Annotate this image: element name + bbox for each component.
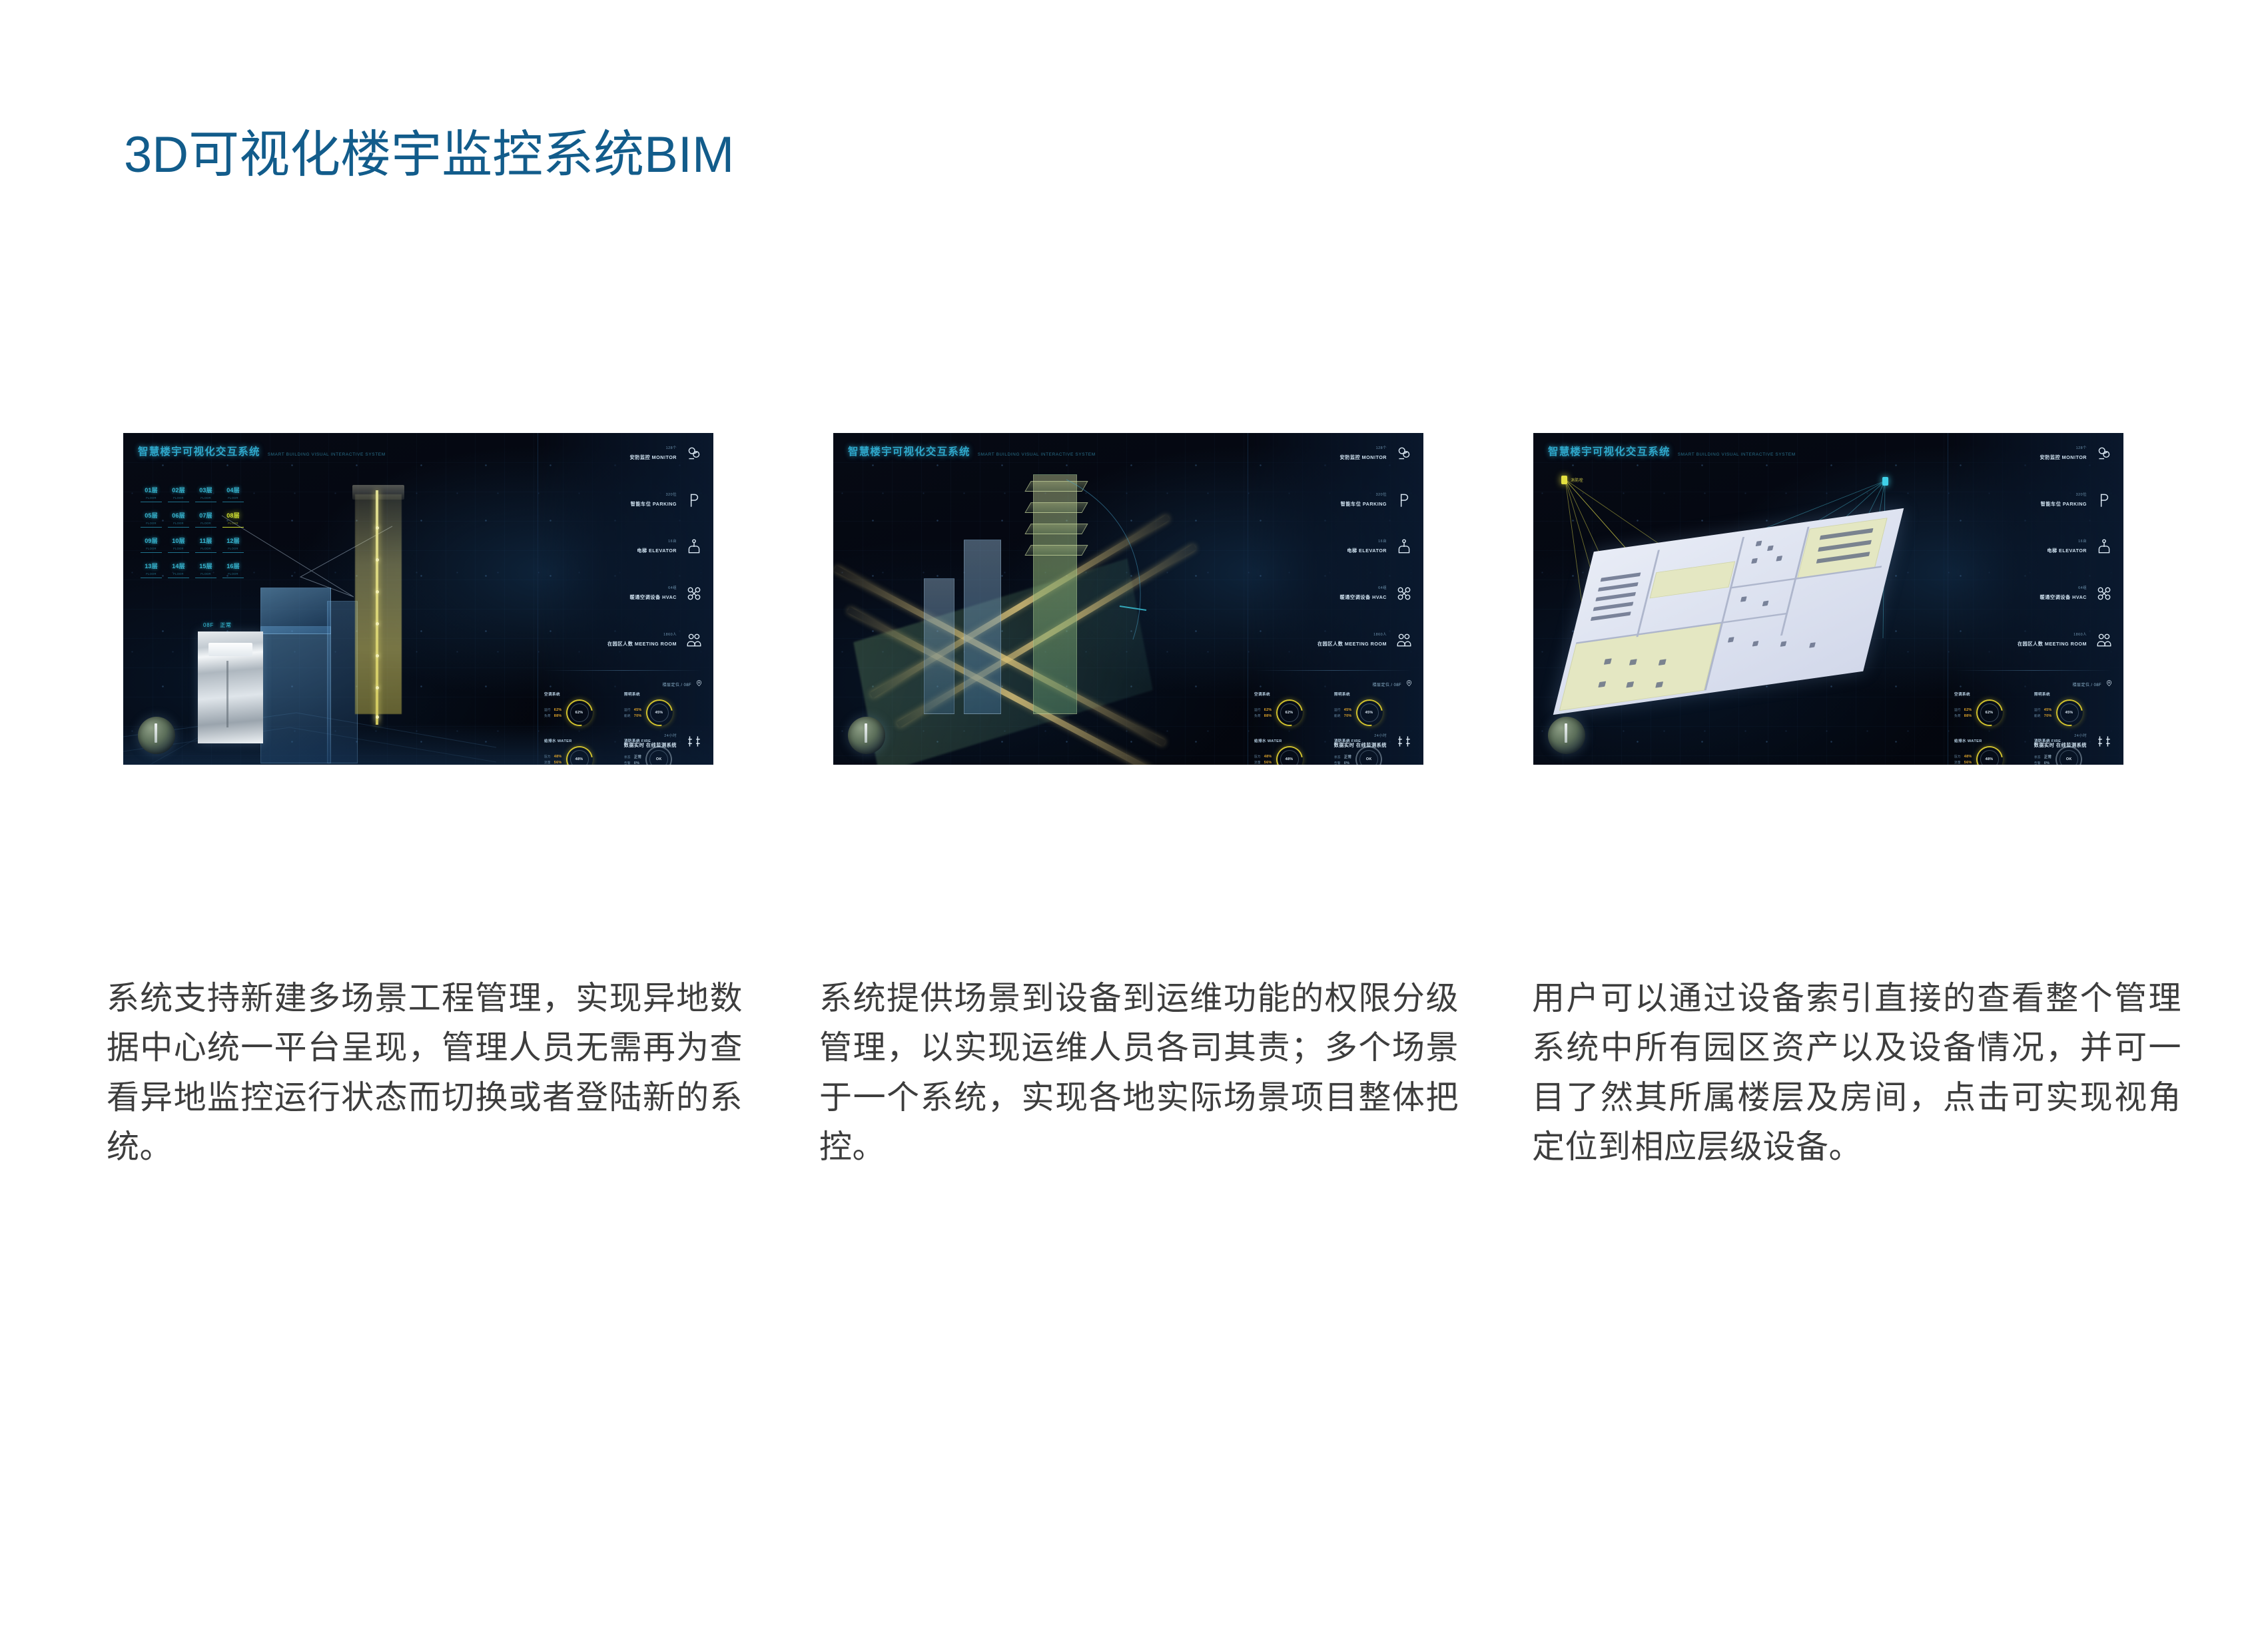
sidebar-value: 24小时	[1334, 733, 1387, 738]
gauge-stat-value: 0%	[634, 761, 639, 765]
sidebar-item-hvac[interactable]: 64组暖通空调设备 HVAC	[1248, 584, 1414, 604]
location-row[interactable]: 楼层定位 / 08F	[663, 678, 703, 690]
floorplan-zone	[1650, 562, 1736, 599]
floorplan-desk	[1728, 637, 1734, 642]
location-label: 楼层定位 / 08F	[1373, 681, 1401, 687]
gauge-stat-key: 运行	[624, 708, 631, 712]
gauge-ring: 62%	[1276, 699, 1303, 726]
gauge-ring-value: 62%	[1986, 711, 1994, 715]
monitor-camera-icon	[1394, 444, 1414, 464]
slide-root: 3D可视化楼宇监控系统BIM 智慧楼宇可视化交互系统 SMART BUILDIN…	[0, 0, 2242, 1652]
elevator-status-tag: 08F正常	[203, 621, 232, 629]
beacon-marker-cyan[interactable]	[1882, 477, 1888, 486]
sidebar-label: 电梯 ELEVATOR	[2047, 548, 2087, 554]
sidebar-value: 1860人	[607, 631, 677, 637]
sidebar-item-elevator[interactable]: 16台电梯 ELEVATOR	[1248, 537, 1414, 557]
gauge-ring: 48%	[1976, 746, 2003, 765]
sidebar-label: 在园区人数 MEETING ROOM	[607, 641, 677, 647]
minimap-globe[interactable]	[848, 717, 885, 754]
gauge-title: 空调系统	[1954, 691, 2033, 697]
gauge-title: 照明系统	[624, 691, 703, 697]
floorplan-desk	[1593, 602, 1634, 611]
hvac-icon	[684, 584, 704, 604]
location-pin-icon	[1405, 678, 1413, 690]
floorplan-desk	[1751, 558, 1758, 564]
gauge-stat-key: 能耗	[1334, 714, 1341, 718]
gauge-stat-key: 运行	[2034, 708, 2041, 712]
gauge-ring-value: 45%	[2065, 711, 2073, 715]
parking-p-icon	[2094, 490, 2114, 510]
sidebar-item-monitor[interactable]: 128个安防监控 MONITOR	[1248, 444, 1414, 464]
clock-analytics-icon	[684, 731, 704, 751]
gauge-title: 照明系统	[2034, 691, 2113, 697]
sidebar-item-parking[interactable]: 320位 智能车位 PARKING	[538, 490, 704, 510]
sidebar-value: 320位	[2041, 492, 2087, 497]
sidebar-divider	[1954, 670, 2113, 671]
right-sidebar: 128个安防监控 MONITOR 320位智能车位 PARKING 16台电梯 …	[1948, 433, 2123, 765]
gauge-stat-value: 56%	[1264, 761, 1272, 765]
gauge-ring-value: OK	[656, 757, 662, 761]
shaft-node	[376, 686, 379, 689]
gauge-ring-value: 62%	[1286, 711, 1294, 715]
shaft-node	[376, 590, 379, 594]
gauge-widget[interactable]: 空调系统 运行62% 负荷88% 62%	[544, 691, 623, 730]
gauge-stat-value: 正常	[2044, 754, 2052, 759]
gauge-stat-value: 62%	[1964, 708, 1972, 712]
gauge-stat-key: 压力	[544, 755, 551, 759]
sidebar-value: 16台	[637, 538, 677, 544]
building-block	[964, 540, 1001, 714]
sidebar-item-people-count[interactable]: 1860人在园区人数 MEETING ROOM	[1248, 630, 1414, 650]
floorplan-desk	[1756, 541, 1762, 546]
dashboard-canvas: 智慧楼宇可视化交互系统 SMART BUILDING VISUAL INTERA…	[123, 433, 713, 765]
sidebar-label: 暖通空调设备 HVAC	[1340, 594, 1387, 600]
monitor-camera-icon	[2094, 444, 2114, 464]
gauge-stat-key: 负荷	[1954, 714, 1961, 718]
sidebar-item-hvac[interactable]: 64组暖通空调设备 HVAC	[1948, 584, 2114, 604]
sidebar-item-monitor[interactable]: 128个 安防监控 MONITOR	[538, 444, 704, 464]
sidebar-value: 24小时	[2034, 733, 2087, 738]
gauge-stat-value: 88%	[1964, 714, 1972, 718]
floorplan-wall	[1780, 527, 1810, 636]
gauge-title: 给排水 WATER	[1954, 738, 2033, 743]
gauge-stat-value: 48%	[1964, 755, 1972, 759]
elevator-rail	[376, 490, 378, 725]
dashboard-subtitle: SMART BUILDING VISUAL INTERACTIVE SYSTEM	[1678, 452, 1796, 458]
floorplan-desk	[1780, 641, 1787, 646]
minimap-globe[interactable]	[1548, 717, 1585, 754]
location-row[interactable]: 楼层定位 / 08F	[2073, 678, 2113, 690]
monitor-camera-icon	[684, 444, 704, 464]
gauge-stat-key: 能耗	[624, 714, 631, 718]
gauge-stat-value: 88%	[1264, 714, 1272, 718]
hvac-icon	[2094, 584, 2114, 604]
gauge-stat-value: 70%	[634, 714, 642, 718]
gauge-stat-value: 0%	[1344, 761, 1349, 765]
gauge-stat-key: 运行	[1334, 708, 1341, 712]
sidebar-label: 电梯 ELEVATOR	[637, 548, 677, 554]
shaft-node	[376, 558, 379, 562]
sidebar-value: 1860人	[1317, 631, 1387, 637]
sidebar-value: 64组	[2040, 585, 2087, 590]
gauge-stat-key: 告警	[624, 761, 631, 765]
floorplan-wall	[1704, 537, 1744, 691]
gauge-stat-key: 状态	[1334, 755, 1341, 759]
screenshot-elevator-view[interactable]: 智慧楼宇可视化交互系统 SMART BUILDING VISUAL INTERA…	[123, 433, 713, 765]
gauge-widget[interactable]: 照明系统运行45%能耗70%45%	[2034, 691, 2113, 730]
gauge-widget[interactable]: 给排水 WATER压力48%流量56%48%	[1254, 738, 1333, 765]
sidebar-item-bottom[interactable]: 24小时 数据实时 在线监测系统	[624, 731, 704, 751]
sidebar-value: 24小时	[624, 733, 677, 738]
floorplan-desk	[1601, 572, 1641, 582]
gauge-title: 给排水 WATER	[544, 738, 623, 743]
elevator-interior-photo[interactable]	[198, 631, 263, 743]
people-count-icon	[2094, 630, 2114, 650]
right-sidebar: 128个安防监控 MONITOR 320位智能车位 PARKING 16台电梯 …	[1248, 433, 1423, 765]
elevator-floor: 08F	[203, 622, 214, 628]
gauge-stat-value: 62%	[554, 708, 562, 712]
gauge-stat-key: 流量	[544, 761, 551, 765]
right-sidebar: 128个 安防监控 MONITOR 320位 智能车位 PARKING	[538, 433, 713, 765]
gauge-widget[interactable]: 照明系统运行45%能耗70%45%	[1334, 691, 1413, 730]
gauge-stat-key: 运行	[544, 708, 551, 712]
location-pin-icon	[695, 678, 703, 690]
gauge-ring: 45%	[2056, 699, 2083, 726]
gauge-stat-key: 运行	[1954, 708, 1961, 712]
sidebar-value: 64组	[1340, 585, 1387, 590]
gauge-ring-value: 48%	[1286, 757, 1294, 761]
gauge-stat-key: 负荷	[1254, 714, 1261, 718]
sidebar-item-people-count[interactable]: 1860人在园区人数 MEETING ROOM	[1948, 630, 2114, 650]
floorplan-desk	[1752, 641, 1759, 646]
clock-analytics-icon	[2094, 731, 2114, 751]
gauge-ring: 62%	[1976, 699, 2003, 726]
sidebar-item-parking[interactable]: 320位智能车位 PARKING	[1948, 490, 2114, 510]
sidebar-label: 智能车位 PARKING	[2041, 501, 2087, 507]
location-pin-icon	[2105, 678, 2113, 690]
beacon-marker-yellow[interactable]	[1561, 476, 1567, 484]
caption-column-1: 系统支持新建多场景工程管理，实现异地数据中心统一平台呈现，管理人员无需再为查看异…	[107, 974, 743, 1172]
gauge-ring-value: 48%	[575, 757, 583, 761]
gauge-stat-value: 48%	[1264, 755, 1272, 759]
sidebar-label: 电梯 ELEVATOR	[1347, 548, 1387, 554]
floorplan-desk	[1740, 596, 1747, 602]
gauge-stat-value: 88%	[554, 714, 562, 718]
gauge-ring: 48%	[566, 746, 593, 765]
floorplan-desk	[1767, 546, 1774, 551]
floorplan-desk	[1776, 556, 1782, 561]
sidebar-value: 1860人	[2018, 631, 2087, 637]
sidebar-item-bottom[interactable]: 24小时数据实时 在线监测系统	[1334, 731, 1414, 751]
screenshot-district-view[interactable]: 智慧楼宇可视化交互系统 SMART BUILDING VISUAL INTERA…	[833, 433, 1423, 765]
gauge-widget[interactable]: 给排水 WATER压力48%流量56%48%	[1954, 738, 2033, 765]
gauge-stat-value: 45%	[1344, 708, 1352, 712]
gauge-stat-key: 压力	[1254, 755, 1261, 759]
elevator-icon	[684, 537, 704, 557]
floorplan-desk	[1595, 592, 1636, 602]
gauge-stat-key: 压力	[1954, 755, 1961, 759]
sidebar-value: 64组	[630, 585, 677, 590]
caption-column-2: 系统提供场景到设备到运维功能的权限分级管理，以实现运维人员各司其责；多个场景于一…	[819, 974, 1459, 1172]
gauge-stat-value: 45%	[634, 708, 642, 712]
sidebar-label: 数据实时 在线监测系统	[624, 742, 677, 748]
sidebar-item-elevator[interactable]: 16台电梯 ELEVATOR	[1948, 537, 2114, 557]
floorplan-desk	[1598, 582, 1639, 592]
gauge-ring-value: 48%	[1986, 757, 1994, 761]
gauge-stat-value: 56%	[554, 761, 562, 765]
shaft-node	[376, 622, 379, 625]
sidebar-item-hvac[interactable]: 64组 暖通空调设备 HVAC	[538, 584, 704, 604]
sidebar-item-bottom[interactable]: 24小时数据实时 在线监测系统	[2034, 731, 2114, 751]
glass-block	[260, 588, 331, 634]
sidebar-label: 在园区人数 MEETING ROOM	[2018, 641, 2087, 647]
caption-column-3: 用户可以通过设备索引直接的查看整个管理系统中所有园区资产以及设备情况，并可一目了…	[1532, 974, 2181, 1172]
dashboard-header: 智慧楼宇可视化交互系统 SMART BUILDING VISUAL INTERA…	[1548, 444, 1796, 458]
gauge-widget[interactable]: 给排水 WATER 压力48% 流量56% 48%	[544, 738, 623, 765]
beacon-label: 消防栓	[1571, 477, 1583, 483]
location-row[interactable]: 楼层定位 / 08F	[1373, 678, 1413, 690]
sidebar-label: 在园区人数 MEETING ROOM	[1317, 641, 1387, 647]
gauge-stat-key: 状态	[624, 755, 631, 759]
gauge-ring: 45%	[1356, 699, 1383, 726]
gauge-widget[interactable]: 照明系统 运行45% 能耗70% 45%	[624, 691, 703, 730]
sidebar-label: 安防监控 MONITOR	[629, 454, 677, 460]
sidebar-label: 数据实时 在线监测系统	[1334, 742, 1387, 748]
floorplan-desk	[1762, 601, 1769, 606]
dashboard-canvas: 智慧楼宇可视化交互系统 SMART BUILDING VISUAL INTERA…	[833, 433, 1423, 765]
sidebar-divider	[544, 670, 703, 671]
gauge-panel: 空调系统运行62%负荷88%62% 照明系统运行45%能耗70%45% 给排水 …	[1954, 691, 2113, 765]
gauge-stat-value: 56%	[1964, 761, 1972, 765]
sidebar-label: 安防监控 MONITOR	[2040, 454, 2087, 460]
sidebar-label: 安防监控 MONITOR	[1339, 454, 1387, 460]
gauge-widget[interactable]: 空调系统运行62%负荷88%62%	[1954, 691, 2033, 730]
gauge-title: 空调系统	[1254, 691, 1333, 697]
sidebar-label: 智能车位 PARKING	[1341, 501, 1387, 507]
elevator-icon	[2094, 537, 2114, 557]
hvac-icon	[1394, 584, 1414, 604]
minimap-globe[interactable]	[138, 717, 175, 754]
elevator-icon	[1394, 537, 1414, 557]
sidebar-divider	[1254, 670, 1413, 671]
gauge-ring-value: 62%	[575, 711, 583, 715]
gauge-stat-key: 能耗	[2034, 714, 2041, 718]
screenshot-floorplan-view[interactable]: 智慧楼宇可视化交互系统 SMART BUILDING VISUAL INTERA…	[1533, 433, 2123, 765]
sidebar-value: 128个	[1339, 445, 1387, 450]
building-block	[924, 578, 954, 714]
dashboard-canvas: 智慧楼宇可视化交互系统 SMART BUILDING VISUAL INTERA…	[1533, 433, 2123, 765]
ground-grid-lines	[123, 698, 496, 765]
gauge-stat-value: 正常	[1344, 754, 1351, 759]
gauge-stat-value: 0%	[2044, 761, 2050, 765]
gauge-title: 照明系统	[1334, 691, 1413, 697]
gauge-stat-key: 状态	[2034, 755, 2041, 759]
gauge-widget[interactable]: 空调系统运行62%负荷88%62%	[1254, 691, 1333, 730]
gauge-title: 给排水 WATER	[1254, 738, 1333, 743]
people-count-icon	[1394, 630, 1414, 650]
sidebar-label: 暖通空调设备 HVAC	[2040, 594, 2087, 600]
gauge-stat-value: 45%	[2044, 708, 2052, 712]
gauge-stat-value: 48%	[554, 755, 562, 759]
screenshot-row: 智慧楼宇可视化交互系统 SMART BUILDING VISUAL INTERA…	[0, 433, 2242, 766]
sidebar-item-parking[interactable]: 320位智能车位 PARKING	[1248, 490, 1414, 510]
sidebar-value: 320位	[631, 492, 677, 497]
floorplan-desk	[1591, 612, 1631, 621]
sidebar-value: 320位	[1341, 492, 1387, 497]
sidebar-label: 数据实时 在线监测系统	[2034, 742, 2087, 748]
gauge-stat-value: 62%	[1264, 708, 1272, 712]
gauge-title: 空调系统	[544, 691, 623, 697]
location-label: 楼层定位 / 08F	[2073, 681, 2101, 687]
gauge-stat-value: 70%	[2044, 714, 2052, 718]
shaft-node	[376, 654, 379, 657]
gauge-stat-value: 70%	[1344, 714, 1352, 718]
gauge-panel: 空调系统 运行62% 负荷88% 62% 照明系统	[544, 691, 703, 765]
gauge-ring: 45%	[646, 699, 673, 726]
gauge-ring-value: OK	[1366, 757, 1372, 761]
sidebar-item-people-count[interactable]: 1860人 在园区人数 MEETING ROOM	[538, 630, 704, 650]
gauge-ring: 62%	[566, 699, 593, 726]
sidebar-item-monitor[interactable]: 128个安防监控 MONITOR	[1948, 444, 2114, 464]
gauge-ring: 48%	[1276, 746, 1303, 765]
connector-lines	[1053, 473, 1173, 673]
gauge-stat-key: 告警	[1334, 761, 1341, 765]
sidebar-label: 智能车位 PARKING	[631, 501, 677, 507]
clock-analytics-icon	[1394, 731, 1414, 751]
sidebar-value: 128个	[629, 445, 677, 450]
gauge-stat-key: 告警	[2034, 761, 2041, 765]
page-title: 3D可视化楼宇监控系统BIM	[124, 129, 734, 182]
gauge-stat-value: 正常	[634, 754, 641, 759]
gauge-stat-key: 负荷	[544, 714, 551, 718]
gauge-ring-value: OK	[2066, 757, 2072, 761]
sidebar-label: 暖通空调设备 HVAC	[630, 594, 677, 600]
gauge-ring-value: 45%	[655, 711, 663, 715]
sidebar-item-elevator[interactable]: 16台 电梯 ELEVATOR	[538, 537, 704, 557]
gauge-stat-key: 运行	[1254, 708, 1261, 712]
dashboard-title: 智慧楼宇可视化交互系统	[1548, 444, 1671, 458]
elevator-status: 正常	[220, 622, 232, 628]
gauge-stat-key: 流量	[1254, 761, 1261, 765]
sidebar-value: 128个	[2040, 445, 2087, 450]
location-label: 楼层定位 / 08F	[663, 681, 691, 687]
gauge-stat-key: 流量	[1954, 761, 1961, 765]
sidebar-value: 16台	[2047, 538, 2087, 544]
parking-p-icon	[1394, 490, 1414, 510]
floorplan-desk	[1809, 642, 1816, 647]
gauge-ring-value: 45%	[1365, 711, 1373, 715]
parking-p-icon	[684, 490, 704, 510]
sidebar-value: 16台	[1347, 538, 1387, 544]
gauge-panel: 空调系统运行62%负荷88%62% 照明系统运行45%能耗70%45% 给排水 …	[1254, 691, 1413, 765]
shaft-node	[376, 526, 379, 530]
people-count-icon	[684, 630, 704, 650]
